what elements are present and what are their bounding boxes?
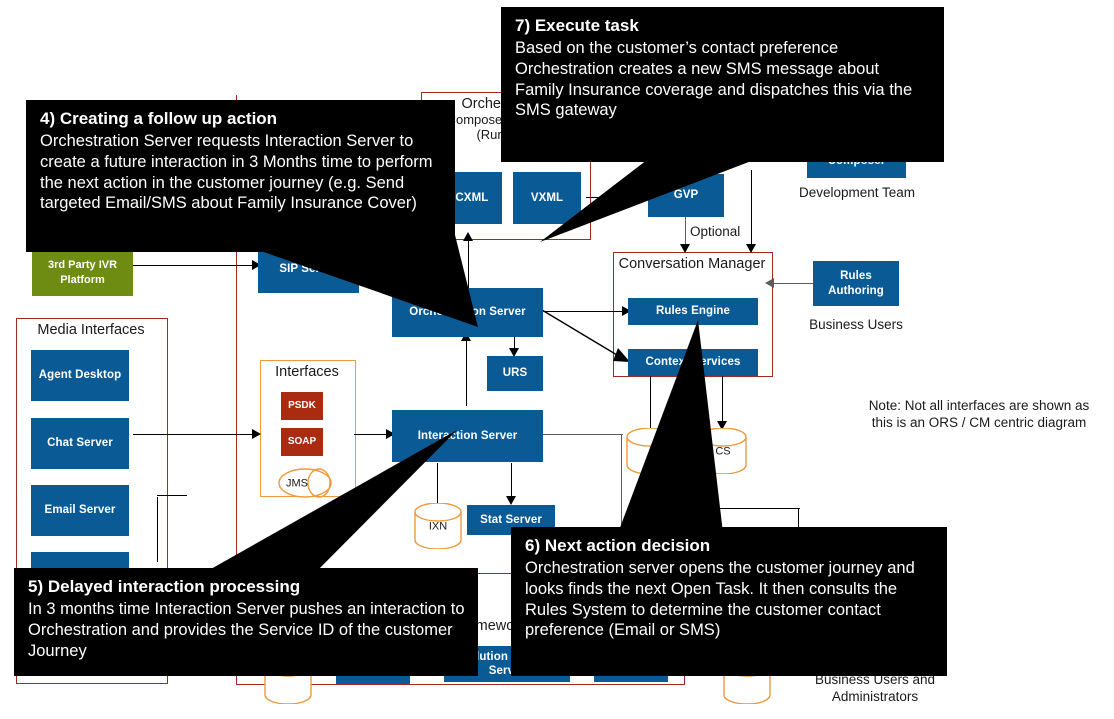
box-chat-server[interactable]: Chat Server: [31, 418, 129, 469]
callout-tail-5: [195, 430, 460, 580]
connector-email-loop-h: [157, 495, 187, 496]
frame-label-conversation-manager: Conversation Manager: [613, 256, 771, 273]
callout-4-body: Orchestration Server requests Interactio…: [40, 131, 443, 214]
callout-6-body: Orchestration server opens the customer …: [525, 558, 935, 641]
box-label-rules-authoring: Rules Authoring: [813, 269, 899, 298]
connector-interaction-right-h: [543, 434, 623, 435]
box-label-third-party-ivr: 3rd Party IVR Platform: [32, 258, 133, 287]
box-label-urs: URS: [503, 366, 528, 380]
development-team-text: Development Team: [799, 185, 915, 200]
callout-7-title: 7) Execute task: [515, 15, 932, 37]
callout-4[interactable]: 4) Creating a follow up action Orchestra…: [26, 100, 455, 252]
box-psdk[interactable]: PSDK: [281, 392, 323, 420]
box-third-party-ivr[interactable]: 3rd Party IVR Platform: [32, 249, 133, 296]
callout-5-title: 5) Delayed interaction processing: [28, 576, 466, 598]
callout-7-body: Based on the customer’s contact preferen…: [515, 38, 932, 121]
callout-6-title: 6) Next action decision: [525, 535, 935, 557]
label-business-users-admins: Business Users and Administrators: [805, 672, 945, 706]
box-agent-desktop[interactable]: Agent Desktop: [31, 350, 129, 401]
conversation-manager-title: Conversation Manager: [613, 256, 771, 273]
callout-5-body: In 3 months time Interaction Server push…: [28, 599, 466, 661]
box-label-email-server: Email Server: [45, 503, 116, 517]
box-label-rules-engine: Rules Engine: [656, 304, 730, 318]
box-rules-authoring[interactable]: Rules Authoring: [813, 261, 899, 306]
box-label-stat-server: Stat Server: [480, 513, 542, 527]
callout-6[interactable]: 6) Next action decision Orchestration se…: [511, 527, 947, 676]
box-email-server[interactable]: Email Server: [31, 485, 129, 536]
arrowhead-gvp-optional: [680, 244, 690, 253]
label-development-team: Development Team: [797, 185, 917, 202]
callout-4-title: 4) Creating a follow up action: [40, 108, 443, 130]
box-label-chat-server: Chat Server: [47, 436, 113, 450]
box-label-psdk: PSDK: [288, 400, 316, 412]
label-note: Note: Not all interfaces are shown as th…: [868, 398, 1090, 432]
box-urs[interactable]: URS: [487, 356, 543, 391]
connector-email-loop-v: [157, 497, 158, 562]
box-label-agent-desktop: Agent Desktop: [39, 368, 121, 382]
arrowhead-top-to-cm: [746, 244, 756, 253]
connector-rules-authoring-to-cm: [773, 283, 813, 284]
frame-label-media-interfaces: Media Interfaces: [16, 322, 166, 339]
callout-tail-7: [540, 150, 785, 245]
callout-tail-6: [618, 320, 768, 535]
callout-7[interactable]: 7) Execute task Based on the customer’s …: [501, 7, 944, 162]
arrowhead-rules-authoring-to-cm: [765, 278, 774, 288]
diagram-canvas: Orchestration Composer Workflow (Runtime…: [0, 0, 1114, 719]
callout-5[interactable]: 5) Delayed interaction processing In 3 m…: [14, 568, 478, 676]
label-business-users: Business Users: [800, 317, 912, 334]
connector-interaction-to-ors: [466, 340, 467, 406]
arrowhead-interaction-to-stat: [506, 496, 516, 505]
frame-label-interfaces: Interfaces: [260, 364, 354, 381]
